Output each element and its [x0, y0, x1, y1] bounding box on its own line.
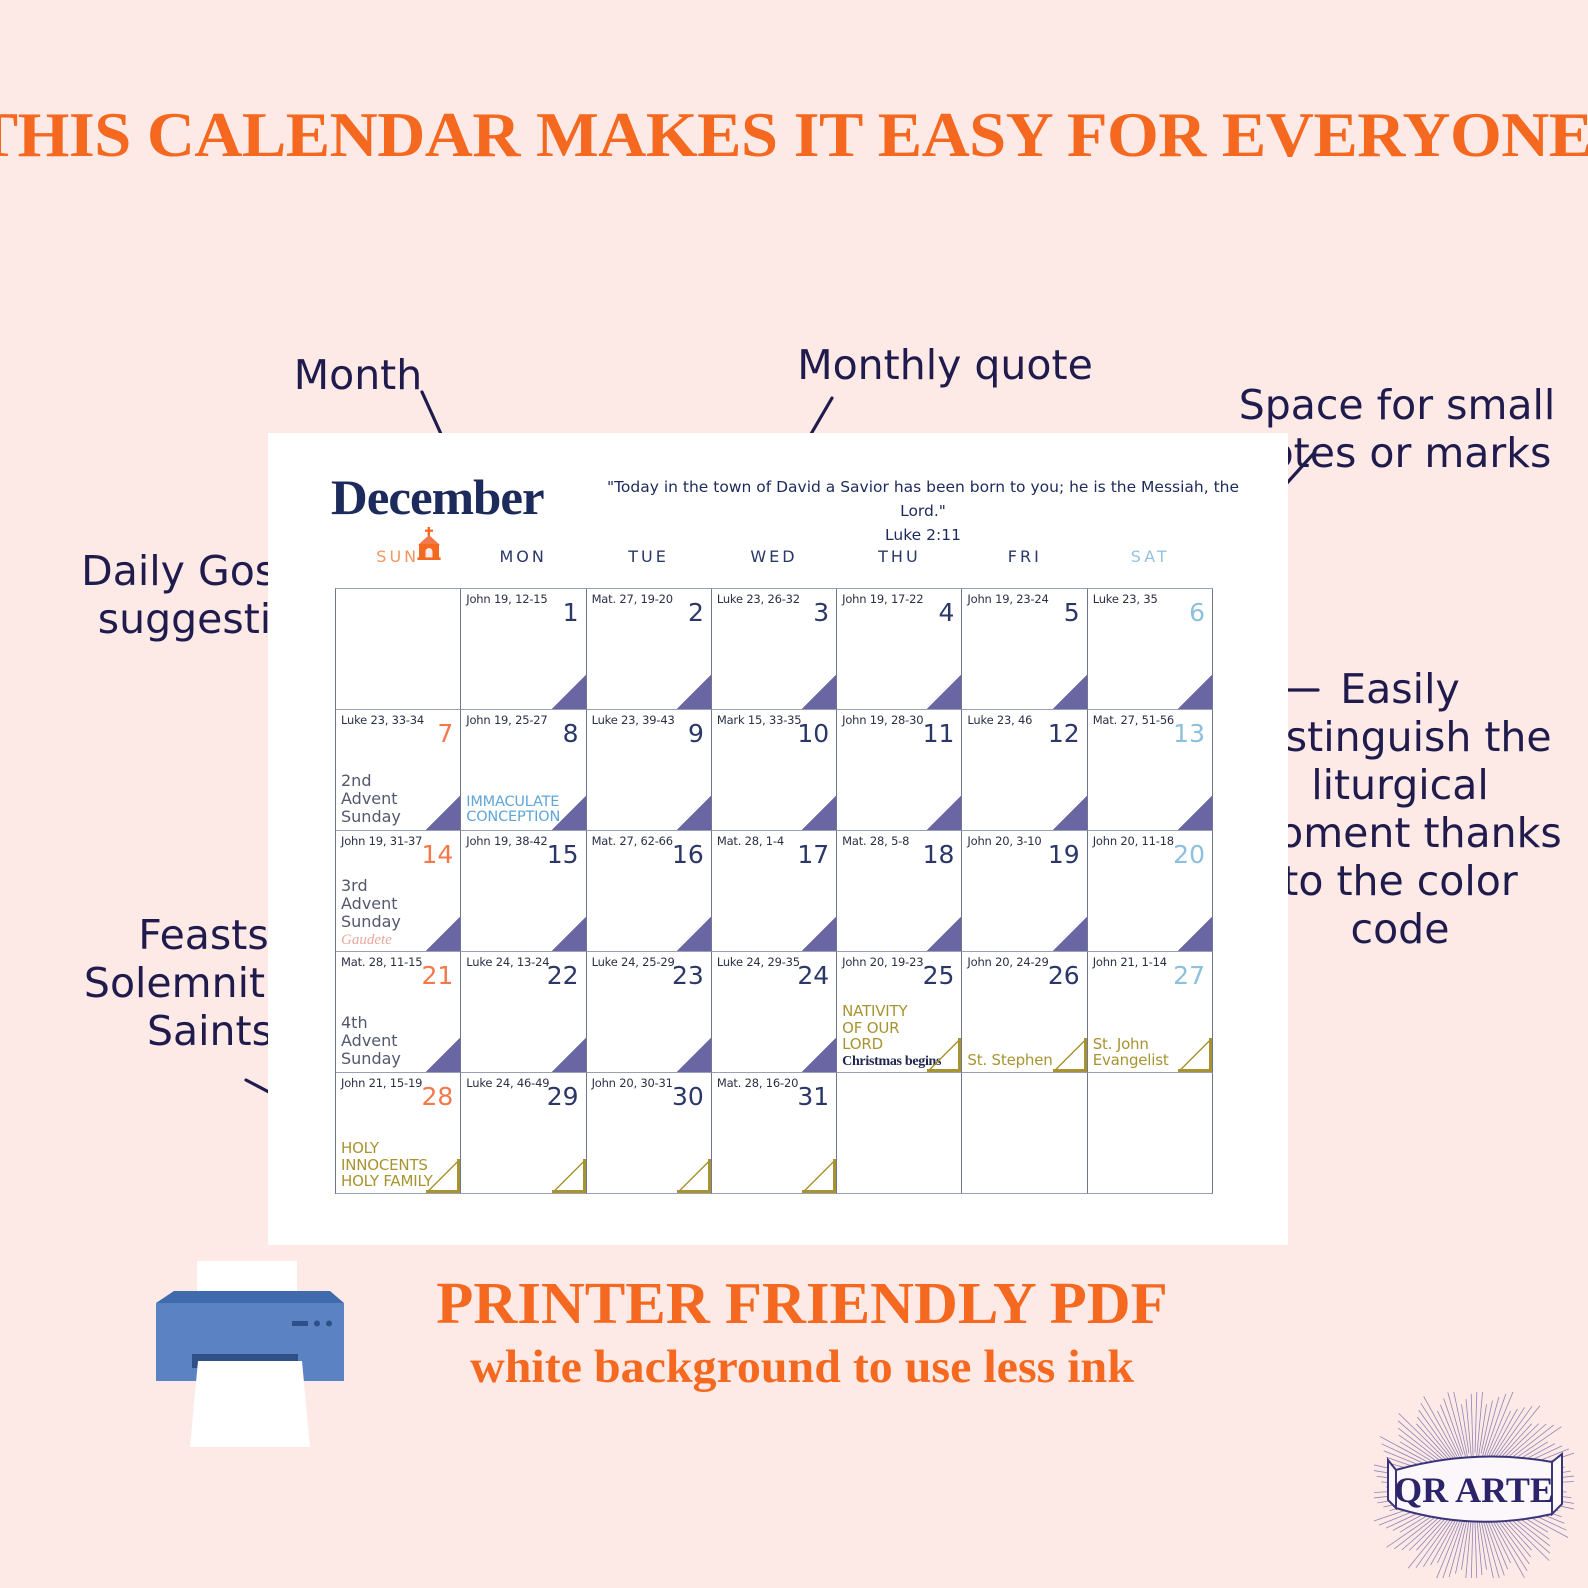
feast-label: HOLY INNOCENTS HOLY FAMILY [341, 1140, 438, 1189]
calendar-day-cell[interactable]: Luke 23, 356 [1088, 589, 1213, 710]
gospel-reading: Luke 23, 46 [967, 713, 1032, 727]
gospel-reading: Luke 24, 13-24 [466, 955, 549, 969]
liturgical-marker-advent-icon [426, 796, 460, 830]
liturgical-marker-advent-icon [1053, 917, 1087, 951]
liturgical-marker-advent-icon [802, 796, 836, 830]
weekday-header-tue: TUE [586, 547, 711, 577]
gospel-reading: Mat. 28, 1-4 [717, 834, 784, 848]
gospel-reading: Mat. 28, 5-8 [842, 834, 909, 848]
day-number: 27 [1173, 963, 1205, 988]
calendar-day-cell[interactable]: John 21, 1-1427St. John Evangelist [1088, 952, 1213, 1073]
calendar-day-cell[interactable]: Mat. 28, 16-2031 [712, 1073, 837, 1194]
calendar-empty-cell[interactable] [962, 1073, 1087, 1194]
feast-label: 4th Advent Sunday [341, 1014, 438, 1068]
day-number: 26 [1048, 963, 1080, 988]
calendar-day-cell[interactable]: Luke 23, 39-439 [587, 710, 712, 831]
day-number: 19 [1048, 842, 1080, 867]
liturgical-marker-christmas-icon [677, 1159, 711, 1193]
gospel-reading: John 20, 19-23 [842, 955, 923, 969]
liturgical-marker-advent-icon [1178, 675, 1212, 709]
liturgical-marker-advent-icon [802, 675, 836, 709]
calendar-day-cell[interactable]: John 21, 15-1928HOLY INNOCENTS HOLY FAMI… [336, 1073, 461, 1194]
promo-block: PRINTER FRIENDLY PDF white background to… [352, 1272, 1252, 1399]
day-number: 20 [1173, 842, 1205, 867]
day-number: 15 [547, 842, 579, 867]
gospel-reading: Luke 23, 35 [1093, 592, 1158, 606]
gospel-reading: John 20, 24-29 [967, 955, 1048, 969]
calendar-day-cell[interactable]: Luke 23, 26-323 [712, 589, 837, 710]
liturgical-marker-advent-icon [552, 675, 586, 709]
quote-reference: Luke 2:11 [598, 523, 1248, 547]
calendar-day-cell[interactable]: Luke 24, 46-4929 [461, 1073, 586, 1194]
liturgical-marker-advent-icon [552, 796, 586, 830]
calendar-grid: John 19, 12-151Mat. 27, 19-202Luke 23, 2… [335, 588, 1213, 1194]
liturgical-marker-advent-icon [802, 1038, 836, 1072]
weekday-header-sun: SUN [335, 547, 460, 577]
gospel-reading: Mat. 27, 19-20 [592, 592, 673, 606]
calendar-day-cell[interactable]: Mat. 27, 51-5613 [1088, 710, 1213, 831]
day-number: 13 [1173, 721, 1205, 746]
feast-label: St. John Evangelist [1093, 1036, 1190, 1068]
weekday-header-mon: MON [460, 547, 585, 577]
liturgical-marker-christmas-icon [426, 1159, 460, 1193]
calendar-day-cell[interactable]: Luke 23, 33-3472nd Advent Sunday [336, 710, 461, 831]
liturgical-marker-advent-icon [1178, 796, 1212, 830]
liturgical-marker-advent-icon [677, 796, 711, 830]
gospel-reading: Mat. 27, 62-66 [592, 834, 673, 848]
brand-logo: QR ARTE [1374, 1392, 1574, 1578]
monthly-quote-block: "Today in the town of David a Savior has… [598, 475, 1248, 547]
feast-subtitle: Gaudete [341, 932, 392, 949]
weekday-header-fri: FRI [962, 547, 1087, 577]
calendar-day-cell[interactable]: Mat. 27, 19-202 [587, 589, 712, 710]
calendar-empty-cell[interactable] [837, 1073, 962, 1194]
gospel-reading: Luke 23, 26-32 [717, 592, 800, 606]
liturgical-marker-advent-icon [677, 1038, 711, 1072]
calendar-day-cell[interactable]: Luke 23, 4612 [962, 710, 1087, 831]
liturgical-marker-advent-icon [1178, 917, 1212, 951]
annotation-monthly-quote: Monthly quote [770, 342, 1120, 390]
gospel-reading: John 19, 38-42 [466, 834, 547, 848]
day-number: 23 [672, 963, 704, 988]
gospel-reading: John 19, 12-15 [466, 592, 547, 606]
feast-label: St. Stephen [967, 1052, 1064, 1068]
liturgical-marker-advent-icon [677, 917, 711, 951]
calendar-day-cell[interactable]: Mat. 27, 62-6616 [587, 831, 712, 952]
liturgical-marker-advent-icon [802, 917, 836, 951]
day-number: 25 [923, 963, 955, 988]
calendar-day-cell[interactable]: John 20, 11-1820 [1088, 831, 1213, 952]
day-number: 21 [421, 963, 453, 988]
calendar-day-cell[interactable]: Mat. 28, 5-818 [837, 831, 962, 952]
gospel-reading: John 19, 28-30 [842, 713, 923, 727]
calendar-day-cell[interactable]: Mark 15, 33-3510 [712, 710, 837, 831]
feast-label: NATIVITY OF OUR LORD [842, 1003, 939, 1052]
promo-line-2: white background to use less ink [343, 1336, 1261, 1399]
liturgical-marker-advent-icon [927, 917, 961, 951]
liturgical-marker-advent-icon [927, 675, 961, 709]
gospel-reading: Mat. 28, 11-15 [341, 955, 422, 969]
liturgical-marker-advent-icon [426, 917, 460, 951]
feast-label: IMMACULATE CONCEPTION [466, 795, 563, 826]
gospel-reading: Luke 24, 46-49 [466, 1076, 549, 1090]
liturgical-marker-advent-icon [677, 675, 711, 709]
logo-text: QR ARTE [1394, 1470, 1554, 1510]
gospel-reading: Mark 15, 33-35 [717, 713, 802, 727]
day-number: 1 [563, 600, 579, 625]
gospel-reading: John 20, 30-31 [592, 1076, 673, 1090]
day-number: 24 [797, 963, 829, 988]
day-number: 30 [672, 1084, 704, 1109]
day-number: 22 [547, 963, 579, 988]
day-number: 4 [939, 600, 955, 625]
weekday-header-thu: THU [837, 547, 962, 577]
day-number: 16 [672, 842, 704, 867]
day-number: 17 [797, 842, 829, 867]
calendar-day-cell[interactable]: Luke 24, 29-3524 [712, 952, 837, 1073]
gospel-reading: Luke 23, 39-43 [592, 713, 675, 727]
liturgical-marker-christmas-icon [927, 1038, 961, 1072]
quote-text: "Today in the town of David a Savior has… [607, 478, 1239, 520]
day-number: 5 [1064, 600, 1080, 625]
day-number: 31 [797, 1084, 829, 1109]
gospel-reading: Luke 23, 33-34 [341, 713, 424, 727]
calendar-day-cell[interactable]: John 20, 19-2325NATIVITY OF OUR LORDChri… [837, 952, 962, 1073]
gospel-reading: Luke 24, 25-29 [592, 955, 675, 969]
gospel-reading: John 21, 15-19 [341, 1076, 422, 1090]
day-number: 9 [688, 721, 704, 746]
gospel-reading: Mat. 27, 51-56 [1093, 713, 1174, 727]
day-number: 18 [923, 842, 955, 867]
gospel-reading: John 19, 23-24 [967, 592, 1048, 606]
liturgical-marker-advent-icon [1053, 796, 1087, 830]
day-number: 8 [563, 721, 579, 746]
day-number: 2 [688, 600, 704, 625]
weekday-header-wed: WED [711, 547, 836, 577]
calendar-day-cell[interactable]: John 19, 31-37143rd Advent SundayGaudete [336, 831, 461, 952]
gospel-reading: John 20, 3-10 [967, 834, 1041, 848]
gospel-reading: John 20, 11-18 [1093, 834, 1174, 848]
gospel-reading: John 21, 1-14 [1093, 955, 1167, 969]
day-number: 10 [797, 721, 829, 746]
liturgical-marker-advent-icon [1053, 675, 1087, 709]
day-number: 12 [1048, 721, 1080, 746]
liturgical-marker-christmas-icon [1178, 1038, 1212, 1072]
day-number: 29 [547, 1084, 579, 1109]
calendar-day-cell[interactable]: John 20, 30-3130 [587, 1073, 712, 1194]
calendar-day-cell[interactable]: John 19, 28-3011 [837, 710, 962, 831]
page-title: THIS CALENDAR MAKES IT EASY FOR EVERYONE… [0, 96, 1588, 174]
poster-canvas: THIS CALENDAR MAKES IT EASY FOR EVERYONE… [0, 0, 1588, 1588]
calendar-day-cell[interactable]: Mat. 28, 1-417 [712, 831, 837, 952]
calendar-empty-cell[interactable] [336, 589, 461, 710]
calendar-day-cell[interactable]: John 19, 12-151 [461, 589, 586, 710]
liturgical-marker-christmas-icon [552, 1159, 586, 1193]
liturgical-marker-christmas-icon [802, 1159, 836, 1193]
feast-subtitle: Christmas begins [842, 1054, 941, 1070]
gospel-reading: Mat. 28, 16-20 [717, 1076, 798, 1090]
liturgical-marker-advent-icon [927, 796, 961, 830]
gospel-reading: John 19, 25-27 [466, 713, 547, 727]
liturgical-marker-advent-icon [426, 1038, 460, 1072]
calendar-sheet: December "Today in the town of David a S… [268, 433, 1288, 1245]
calendar-day-cell[interactable]: John 19, 17-224 [837, 589, 962, 710]
weekday-label-sun: SUN [376, 547, 419, 566]
calendar-day-cell[interactable]: Luke 24, 13-2422 [461, 952, 586, 1073]
promo-line-1: PRINTER FRIENDLY PDF [339, 1272, 1266, 1336]
liturgical-marker-christmas-icon [1053, 1038, 1087, 1072]
feast-label: 3rd Advent Sunday [341, 877, 438, 931]
calendar-day-cell[interactable]: John 19, 25-278IMMACULATE CONCEPTION [461, 710, 586, 831]
day-number: 14 [421, 842, 453, 867]
gospel-reading: Luke 24, 29-35 [717, 955, 800, 969]
calendar-day-cell[interactable]: Mat. 28, 11-15214th Advent Sunday [336, 952, 461, 1073]
day-number: 11 [923, 721, 955, 746]
gospel-reading: John 19, 17-22 [842, 592, 923, 606]
church-icon [414, 527, 444, 561]
feast-label: 2nd Advent Sunday [341, 772, 438, 826]
month-title: December [331, 468, 544, 526]
day-number: 28 [421, 1084, 453, 1109]
day-number: 7 [437, 721, 453, 746]
day-number: 3 [813, 600, 829, 625]
calendar-day-cell[interactable]: John 20, 3-1019 [962, 831, 1087, 952]
calendar-day-cell[interactable]: Luke 24, 25-2923 [587, 952, 712, 1073]
liturgical-marker-advent-icon [552, 917, 586, 951]
liturgical-marker-advent-icon [552, 1038, 586, 1072]
weekday-header-row: SUN MON TUE WED THU FRI SAT [335, 547, 1213, 577]
day-number: 6 [1189, 600, 1205, 625]
weekday-header-sat: SAT [1088, 547, 1213, 577]
calendar-day-cell[interactable]: John 19, 23-245 [962, 589, 1087, 710]
calendar-day-cell[interactable]: John 20, 24-2926St. Stephen [962, 952, 1087, 1073]
calendar-day-cell[interactable]: John 19, 38-4215 [461, 831, 586, 952]
calendar-empty-cell[interactable] [1088, 1073, 1213, 1194]
annotation-month: Month [258, 352, 458, 400]
printer-icon [152, 1257, 348, 1447]
gospel-reading: John 19, 31-37 [341, 834, 422, 848]
